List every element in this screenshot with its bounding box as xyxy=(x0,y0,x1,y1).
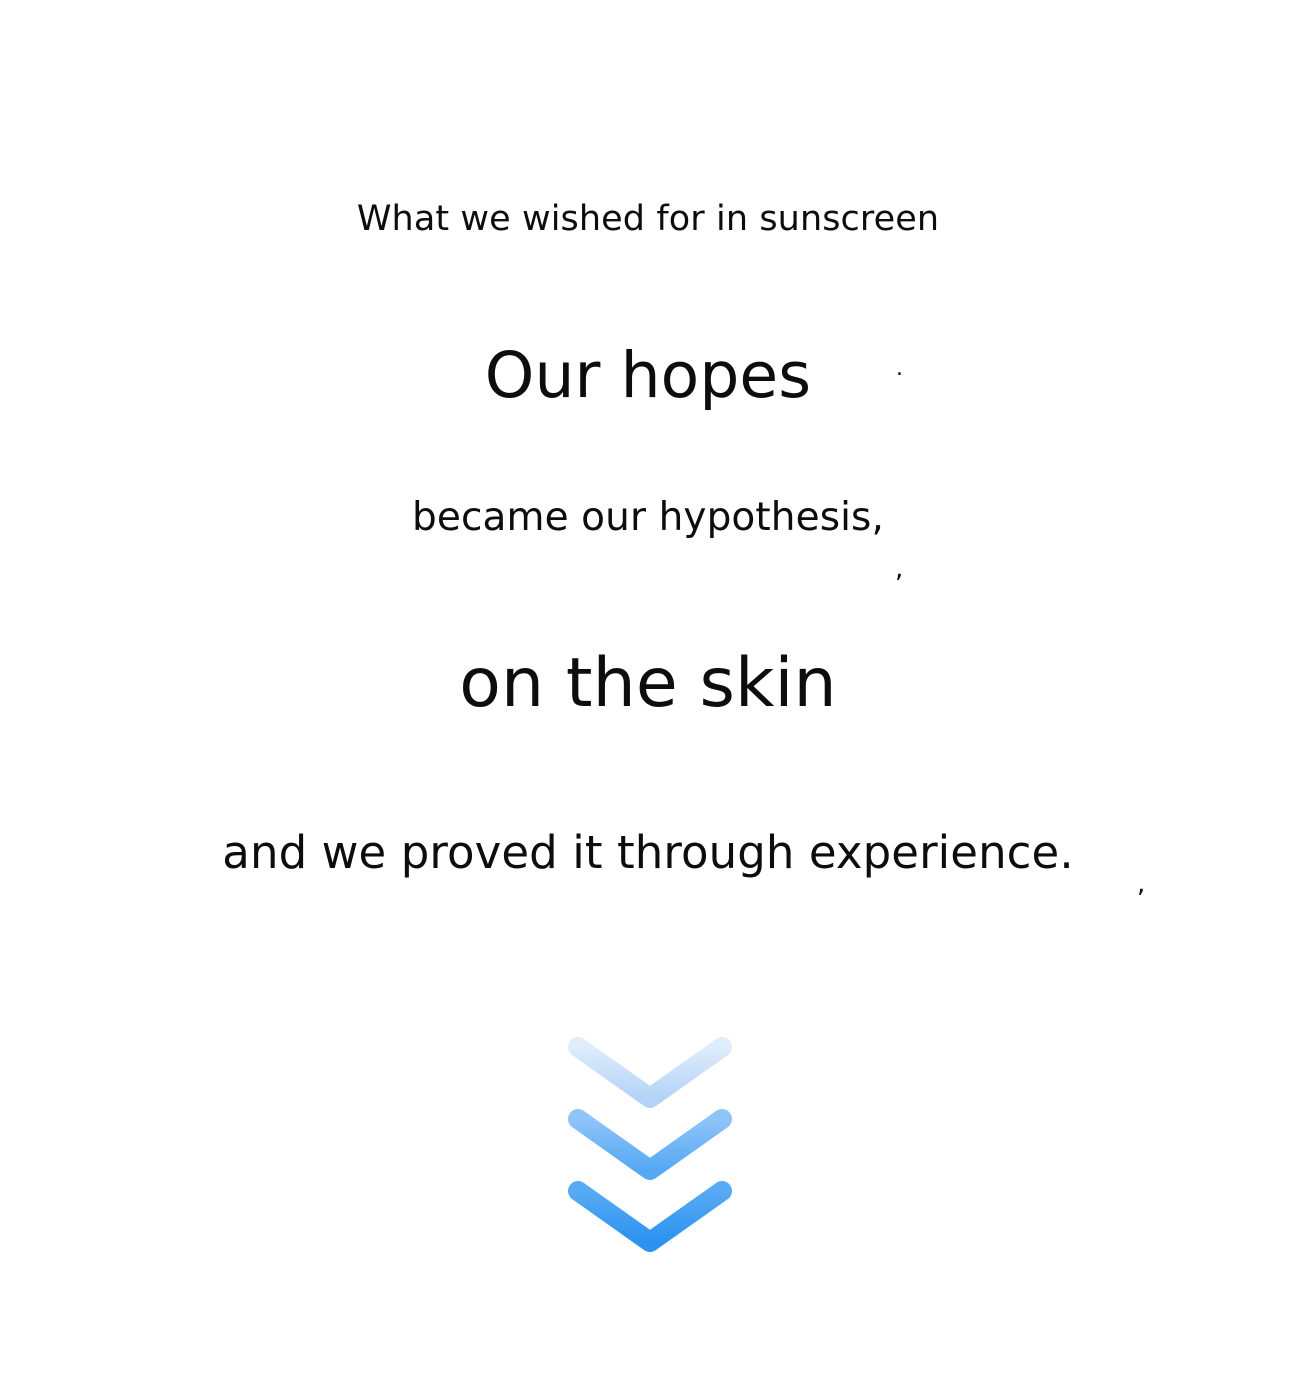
hero-subline-first: became our hypothesis, xyxy=(0,492,1296,544)
hero-headline-secondary: on the skin xyxy=(0,640,1296,728)
chevron-down-icon-middle xyxy=(578,1119,722,1170)
stray-comma-artifact-first: , xyxy=(895,556,903,582)
scroll-down-indicator[interactable] xyxy=(567,1036,733,1254)
hero-eyebrow: What we wished for in sunscreen xyxy=(0,196,1296,242)
hero-section: What we wished for in sunscreen Our hope… xyxy=(0,0,1300,1379)
hero-headline: Our hopes xyxy=(0,336,1296,416)
chevron-down-icon-bottom xyxy=(578,1191,722,1242)
hero-subline-second: and we proved it through experience. xyxy=(0,823,1296,883)
chevron-down-icon-top xyxy=(578,1047,722,1098)
stray-dot-artifact: . xyxy=(896,358,903,380)
stray-comma-artifact-second: , xyxy=(1137,871,1145,897)
